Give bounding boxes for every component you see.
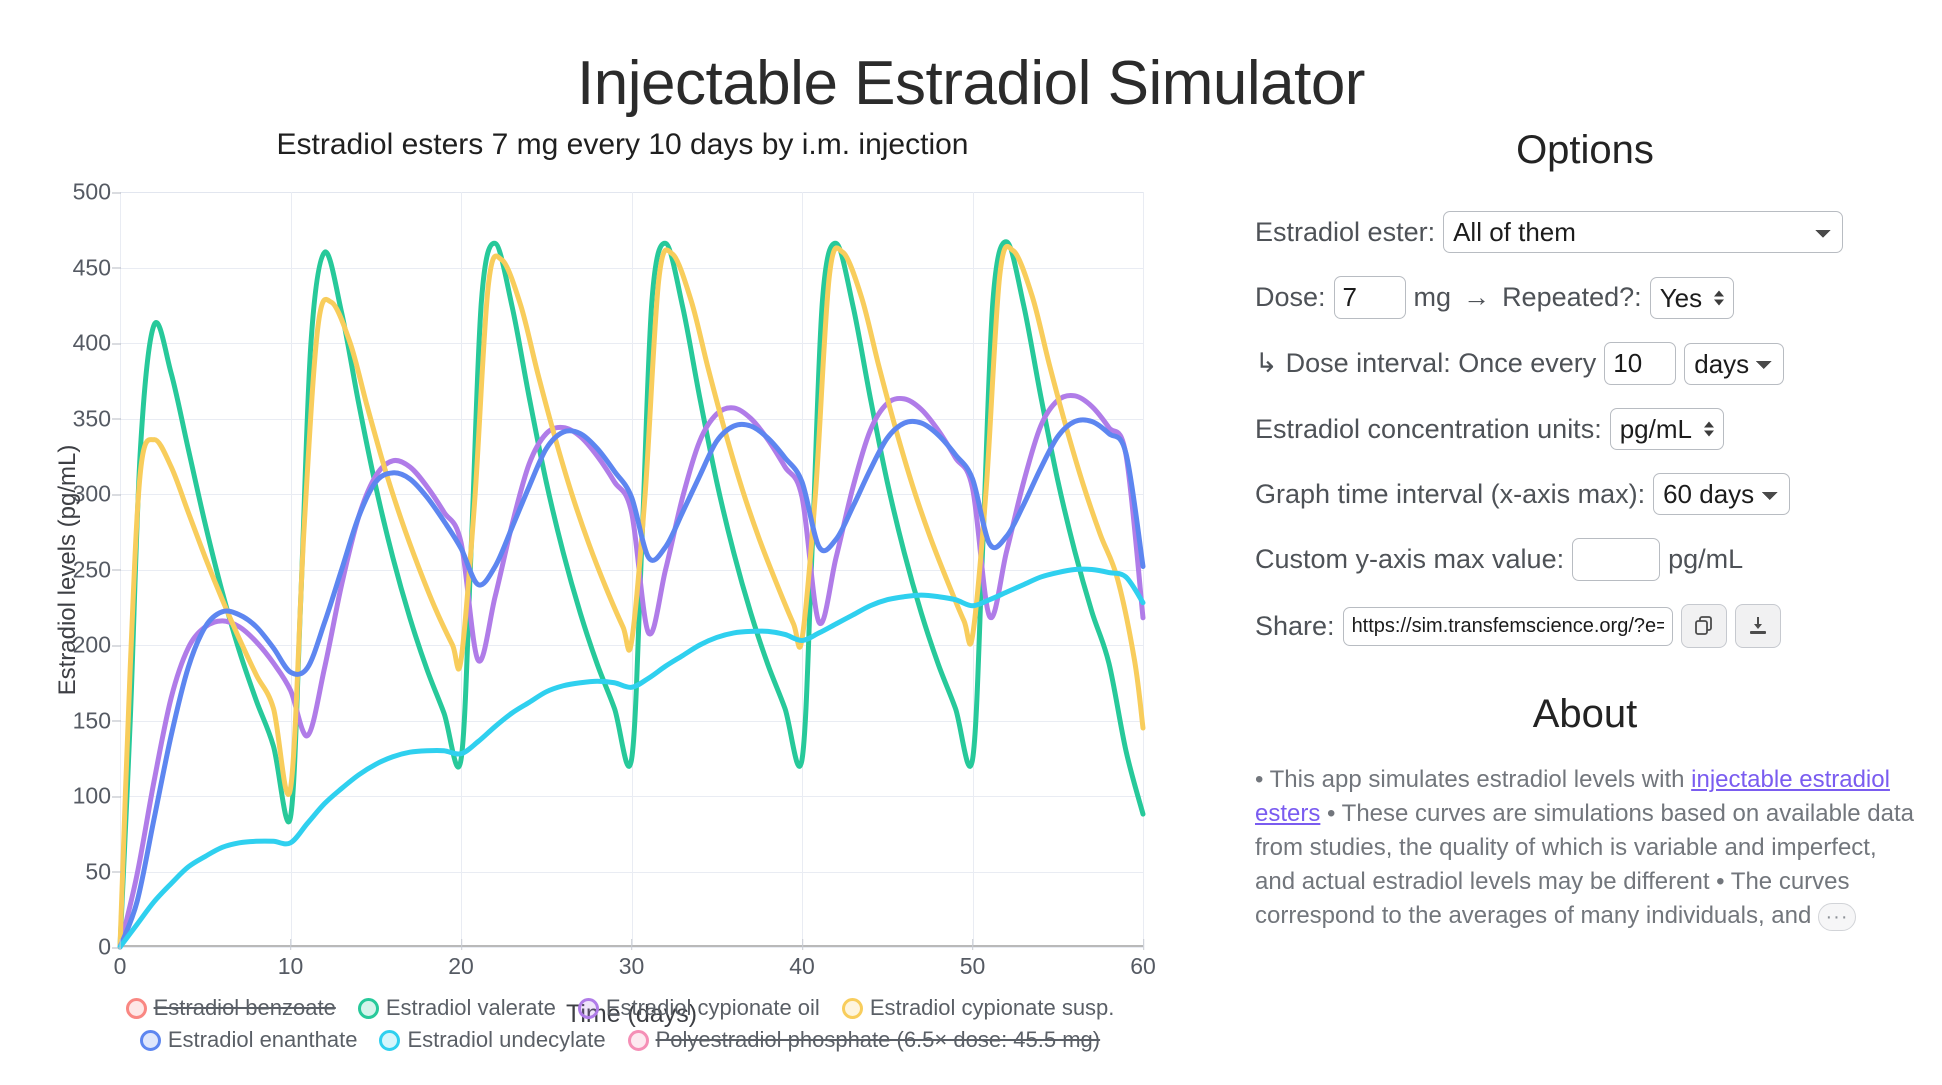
legend-item[interactable]: Estradiol cypionate oil: [578, 995, 820, 1021]
legend-item[interactable]: Estradiol undecylate: [379, 1027, 605, 1053]
x-tick-label: 50: [960, 953, 986, 980]
about-text: • This app simulates estradiol levels wi…: [1255, 763, 1915, 933]
chart-container: Estradiol esters 7 mg every 10 days by i…: [0, 128, 1190, 1028]
legend-item-label: Estradiol cypionate oil: [606, 995, 820, 1021]
interval-input[interactable]: [1604, 342, 1676, 385]
legend-color-swatch: [126, 998, 147, 1019]
chart-line-estradiol-cypionate-oil: [120, 395, 1143, 947]
legend-item[interactable]: Estradiol cypionate susp.: [842, 995, 1115, 1021]
legend-color-swatch: [842, 998, 863, 1019]
y-tick-label: 50: [31, 858, 111, 885]
x-tick-label: 40: [789, 953, 815, 980]
units-label: Estradiol concentration units:: [1255, 415, 1602, 443]
share-url-input[interactable]: [1343, 607, 1673, 646]
option-row-share: Share:: [1255, 604, 1915, 648]
legend-item[interactable]: Estradiol valerate: [358, 995, 556, 1021]
options-heading: Options: [1255, 128, 1915, 173]
ymax-label: Custom y-axis max value:: [1255, 545, 1564, 573]
repeated-select-wrap: Yes: [1650, 277, 1734, 319]
ester-select[interactable]: All of them: [1443, 211, 1843, 253]
y-tick-label: 350: [31, 405, 111, 432]
option-row-units: Estradiol concentration units: pg/mL: [1255, 408, 1915, 450]
legend-row: Estradiol enanthateEstradiol undecylateP…: [60, 1027, 1180, 1053]
repeated-label: Repeated?:: [1502, 283, 1642, 311]
timeinterval-select[interactable]: 60 days: [1653, 473, 1790, 515]
gridline-vertical: [1143, 192, 1144, 947]
app-root: Injectable Estradiol Simulator Estradiol…: [0, 0, 1942, 1085]
legend-item[interactable]: Estradiol enanthate: [140, 1027, 358, 1053]
dose-input[interactable]: [1334, 276, 1406, 319]
plot-area: 050100150200250300350400450500 010203040…: [120, 192, 1143, 947]
legend-color-swatch: [379, 1030, 400, 1051]
x-tick-label: 60: [1130, 953, 1156, 980]
option-row-timeinterval: Graph time interval (x-axis max): 60 day…: [1255, 473, 1915, 515]
y-tick-label: 150: [31, 707, 111, 734]
legend-item[interactable]: Estradiol benzoate: [126, 995, 336, 1021]
x-tick-label: 30: [619, 953, 645, 980]
chart-curves: [120, 192, 1143, 947]
arrow-right-icon: →: [1459, 283, 1494, 311]
legend-item-label: Estradiol undecylate: [407, 1027, 605, 1053]
legend-item-label: Estradiol valerate: [386, 995, 556, 1021]
show-more-icon[interactable]: ···: [1818, 903, 1856, 931]
ester-label: Estradiol ester:: [1255, 218, 1435, 246]
legend-item-label: Estradiol benzoate: [154, 995, 336, 1021]
options-panel: Options Estradiol ester: All of them Dos…: [1255, 128, 1915, 957]
y-tick-label: 0: [31, 934, 111, 961]
download-icon[interactable]: [1735, 604, 1781, 648]
interval-unit-select[interactable]: days: [1684, 343, 1784, 385]
page-title: Injectable Estradiol Simulator: [0, 48, 1942, 119]
legend-color-swatch: [578, 998, 599, 1019]
copy-icon[interactable]: [1681, 604, 1727, 648]
dose-unit-label: mg: [1414, 283, 1452, 311]
units-select-wrap: pg/mL: [1610, 408, 1724, 450]
option-row-interval: ↳ Dose interval: Once every days: [1255, 342, 1915, 385]
about-text-part1: • This app simulates estradiol levels wi…: [1255, 766, 1691, 793]
legend-item[interactable]: Polyestradiol phosphate (6.5× dose: 45.5…: [628, 1027, 1101, 1053]
about-text-part2: • These curves are simulations based on …: [1255, 800, 1914, 929]
option-row-ymax: Custom y-axis max value: pg/mL: [1255, 538, 1915, 581]
ymax-unit-label: pg/mL: [1668, 545, 1743, 573]
x-tick-label: 10: [278, 953, 304, 980]
x-tick-label: 0: [114, 953, 127, 980]
share-label: Share:: [1255, 612, 1335, 640]
legend-item-label: Polyestradiol phosphate (6.5× dose: 45.5…: [656, 1027, 1101, 1053]
hook-arrow-icon: ↳: [1255, 349, 1278, 377]
legend-item-label: Estradiol cypionate susp.: [870, 995, 1115, 1021]
y-tick-label: 400: [31, 330, 111, 357]
timeinterval-label: Graph time interval (x-axis max):: [1255, 480, 1645, 508]
legend-color-swatch: [140, 1030, 161, 1051]
repeated-select[interactable]: Yes: [1650, 277, 1734, 319]
x-tick-label: 20: [448, 953, 474, 980]
chart-line-estradiol-enanthate: [120, 420, 1143, 947]
legend-item-label: Estradiol enanthate: [168, 1027, 358, 1053]
ymax-input[interactable]: [1572, 538, 1660, 581]
chart-title: Estradiol esters 7 mg every 10 days by i…: [0, 128, 1190, 162]
legend-color-swatch: [628, 1030, 649, 1051]
chart-legend: Estradiol benzoateEstradiol valerateEstr…: [60, 995, 1180, 1059]
y-axis-label: Estradiol levels (pg/mL): [54, 444, 82, 695]
y-tick-label: 450: [31, 254, 111, 281]
option-row-ester: Estradiol ester: All of them: [1255, 211, 1915, 253]
legend-color-swatch: [358, 998, 379, 1019]
y-tick-label: 100: [31, 783, 111, 810]
dose-label: Dose:: [1255, 283, 1326, 311]
about-heading: About: [1255, 692, 1915, 737]
interval-label: Dose interval: Once every: [1286, 349, 1597, 377]
legend-row: Estradiol benzoateEstradiol valerateEstr…: [60, 995, 1180, 1021]
units-select[interactable]: pg/mL: [1610, 408, 1724, 450]
option-row-dose: Dose: mg → Repeated?: Yes: [1255, 276, 1915, 319]
y-tick-label: 500: [31, 179, 111, 206]
